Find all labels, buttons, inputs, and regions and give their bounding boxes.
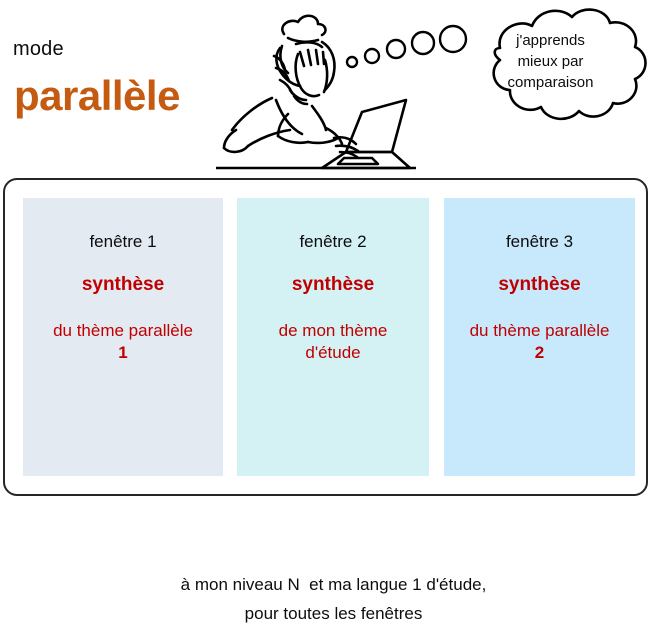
- window-label-3: fenêtre 3: [444, 231, 635, 252]
- synthesis-label-2: synthèse: [237, 273, 429, 296]
- window-description-3-line2: 2: [444, 342, 635, 364]
- window-description-2-line2: d'étude: [237, 342, 429, 364]
- parallel-mode-panel: fenêtre 1 synthèse du thème parallèle 1 …: [3, 178, 648, 496]
- synthesis-label-3: synthèse: [444, 273, 635, 296]
- bubble-line-1: j'apprends: [448, 30, 653, 51]
- window-description-1-line2: 1: [23, 342, 223, 364]
- panel-footer-note: à mon niveau N et ma langue 1 d'étude, p…: [5, 570, 657, 628]
- bubble-line-3: comparaison: [448, 72, 653, 93]
- window-column-1[interactable]: fenêtre 1 synthèse du thème parallèle 1: [23, 198, 223, 476]
- mode-label: mode: [13, 37, 64, 61]
- bubble-line-2: mieux par: [448, 51, 653, 72]
- header: mode parallèle: [0, 0, 657, 178]
- window-column-2[interactable]: fenêtre 2 synthèse de mon thème d'étude: [237, 198, 429, 476]
- window-description-1: du thème parallèle 1: [23, 320, 223, 364]
- footer-note-line-2: pour toutes les fenêtres: [5, 599, 657, 628]
- window-description-2-line1: de mon thème: [279, 321, 388, 340]
- window-description-1-line1: du thème parallèle: [53, 321, 193, 340]
- window-column-3[interactable]: fenêtre 3 synthèse du thème parallèle 2: [444, 198, 635, 476]
- window-label-2: fenêtre 2: [237, 231, 429, 252]
- thought-bubble-text: j'apprends mieux par comparaison: [448, 30, 653, 93]
- window-description-3-line1: du thème parallèle: [470, 321, 610, 340]
- window-description-2: de mon thème d'étude: [237, 320, 429, 364]
- synthesis-label-1: synthèse: [23, 273, 223, 296]
- footer-note-line-1: à mon niveau N et ma langue 1 d'étude,: [5, 570, 657, 599]
- window-label-1: fenêtre 1: [23, 231, 223, 252]
- page-title: parallèle: [14, 72, 180, 120]
- window-description-3: du thème parallèle 2: [444, 320, 635, 364]
